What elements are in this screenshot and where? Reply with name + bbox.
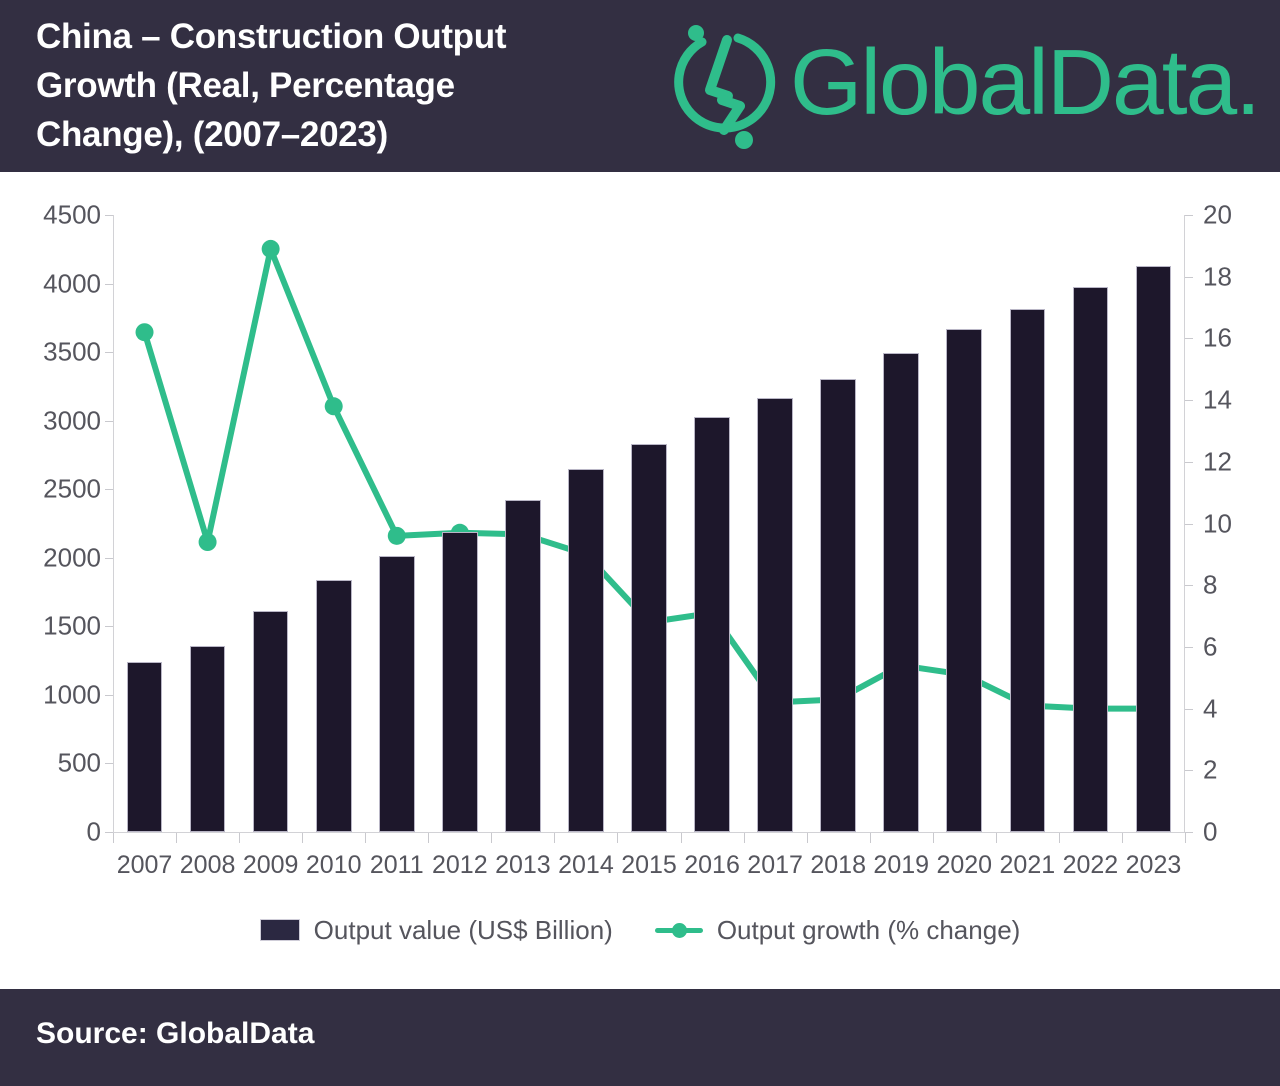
y2-axis-label: 20: [1203, 200, 1280, 231]
plot-area: 0500100015002000250030003500400045000246…: [113, 215, 1185, 832]
x-axis-label: 2011: [370, 851, 424, 880]
chart-canvas: 0500100015002000250030003500400045000246…: [0, 172, 1280, 985]
y-axis-label: 3500: [0, 337, 101, 368]
x-axis-tick: [113, 833, 114, 843]
bar-2020[interactable]: [946, 329, 982, 832]
x-axis-tick: [365, 833, 366, 843]
y2-axis-label: 18: [1203, 261, 1280, 292]
bar-2010[interactable]: [316, 580, 352, 832]
x-axis-label: 2023: [1126, 851, 1182, 880]
bar-2023[interactable]: [1136, 266, 1172, 832]
y-axis-label: 0: [0, 817, 101, 848]
x-axis-tick: [807, 833, 808, 843]
x-axis-tick: [870, 833, 871, 843]
x-axis-label: 2010: [306, 851, 362, 880]
globaldata-logo-svg: GlobalData.: [660, 18, 1260, 154]
x-axis-label: 2015: [621, 851, 677, 880]
y-axis-left-line: [113, 215, 114, 833]
y-axis-tick: [105, 421, 113, 422]
bar-2015[interactable]: [631, 444, 667, 832]
x-axis-label: 2018: [810, 851, 866, 880]
y2-axis-label: 4: [1203, 693, 1280, 724]
growth-marker-2008[interactable]: [199, 533, 217, 551]
y-axis-tick: [105, 489, 113, 490]
y2-axis-tick: [1185, 338, 1193, 339]
y2-axis-tick: [1185, 400, 1193, 401]
bar-2013[interactable]: [505, 500, 541, 832]
legend-item-output-growth[interactable]: Output growth (% change): [655, 915, 1021, 946]
source-label: Source: GlobalData: [36, 1017, 314, 1051]
y2-axis-label: 2: [1203, 755, 1280, 786]
x-axis-label: 2014: [558, 851, 614, 880]
y2-axis-label: 12: [1203, 446, 1280, 477]
y2-axis-tick: [1185, 832, 1193, 833]
y-axis-label: 4000: [0, 268, 101, 299]
x-axis-label: 2007: [117, 851, 173, 880]
x-axis-label: 2016: [684, 851, 740, 880]
bar-2009[interactable]: [253, 611, 289, 832]
y-axis-label: 1500: [0, 611, 101, 642]
y2-axis-label: 6: [1203, 631, 1280, 662]
x-axis-tick: [933, 833, 934, 843]
bar-2022[interactable]: [1073, 287, 1109, 832]
y2-axis-tick: [1185, 277, 1193, 278]
y2-axis-label: 16: [1203, 323, 1280, 354]
globaldata-circle-mark: [679, 25, 771, 149]
y2-axis-tick: [1185, 647, 1193, 648]
bar-2016[interactable]: [694, 417, 730, 832]
x-axis-tick: [681, 833, 682, 843]
x-axis-tick: [176, 833, 177, 843]
x-axis-tick: [302, 833, 303, 843]
x-axis-tick: [491, 833, 492, 843]
y-axis-label: 4500: [0, 200, 101, 231]
x-axis-line: [113, 832, 1185, 833]
bar-2011[interactable]: [379, 556, 415, 832]
x-axis-tick: [1185, 833, 1186, 843]
bar-2018[interactable]: [820, 379, 856, 832]
y2-axis-tick: [1185, 462, 1193, 463]
x-axis-label: 2009: [243, 851, 299, 880]
x-axis-label: 2012: [432, 851, 488, 880]
globaldata-logo: GlobalData.: [660, 18, 1260, 154]
y-axis-label: 2000: [0, 542, 101, 573]
growth-marker-2011[interactable]: [388, 527, 406, 545]
legend-label-output-value: Output value (US$ Billion): [314, 915, 613, 946]
page-title: China – Construction Output Growth (Real…: [36, 12, 636, 159]
y-axis-label: 3000: [0, 405, 101, 436]
y-axis-label: 2500: [0, 474, 101, 505]
y2-axis-label: 8: [1203, 570, 1280, 601]
growth-marker-2009[interactable]: [262, 240, 280, 258]
bar-2019[interactable]: [883, 353, 919, 832]
y-axis-tick: [105, 832, 113, 833]
y2-axis-tick: [1185, 524, 1193, 525]
y2-axis-label: 14: [1203, 385, 1280, 416]
x-axis-tick: [1122, 833, 1123, 843]
y-axis-tick: [105, 558, 113, 559]
chart-legend: Output value (US$ Billion) Output growth…: [0, 907, 1280, 953]
x-axis-label: 2008: [180, 851, 236, 880]
x-axis-tick: [744, 833, 745, 843]
legend-item-output-value[interactable]: Output value (US$ Billion): [260, 915, 613, 946]
x-axis-label: 2021: [1000, 851, 1056, 880]
header-bar: China – Construction Output Growth (Real…: [0, 0, 1280, 172]
y-axis-tick: [105, 626, 113, 627]
y2-axis-tick: [1185, 215, 1193, 216]
x-axis-tick: [554, 833, 555, 843]
y-axis-tick: [105, 763, 113, 764]
bar-2014[interactable]: [568, 469, 604, 832]
y2-axis-tick: [1185, 585, 1193, 586]
legend-line-swatch-icon: [655, 921, 703, 939]
bar-2021[interactable]: [1010, 309, 1046, 832]
x-axis-label: 2020: [936, 851, 992, 880]
y-axis-label: 1000: [0, 679, 101, 710]
growth-marker-2010[interactable]: [325, 397, 343, 415]
y-axis-tick: [105, 352, 113, 353]
y-axis-tick: [105, 695, 113, 696]
y-axis-tick: [105, 284, 113, 285]
y2-axis-label: 0: [1203, 817, 1280, 848]
legend-bar-swatch-icon: [260, 919, 300, 941]
x-axis-label: 2013: [495, 851, 551, 880]
y2-axis-label: 10: [1203, 508, 1280, 539]
x-axis-tick: [996, 833, 997, 843]
bar-2008[interactable]: [190, 646, 226, 832]
x-axis-tick: [617, 833, 618, 843]
legend-label-output-growth: Output growth (% change): [717, 915, 1021, 946]
x-axis-label: 2022: [1063, 851, 1119, 880]
y2-axis-tick: [1185, 770, 1193, 771]
bar-2007[interactable]: [127, 662, 163, 832]
y-axis-label: 500: [0, 748, 101, 779]
bar-2012[interactable]: [442, 532, 478, 832]
y-axis-tick: [105, 215, 113, 216]
x-axis-label: 2017: [747, 851, 803, 880]
footer-bar: Source: GlobalData: [0, 989, 1280, 1086]
bar-2017[interactable]: [757, 398, 793, 832]
globaldata-wordmark: GlobalData.: [790, 30, 1259, 134]
x-axis-label: 2019: [873, 851, 929, 880]
y2-axis-tick: [1185, 709, 1193, 710]
x-axis-tick: [239, 833, 240, 843]
x-axis-tick: [1059, 833, 1060, 843]
growth-marker-2007[interactable]: [136, 323, 154, 341]
chart-page: China – Construction Output Growth (Real…: [0, 0, 1280, 1086]
x-axis-tick: [428, 833, 429, 843]
